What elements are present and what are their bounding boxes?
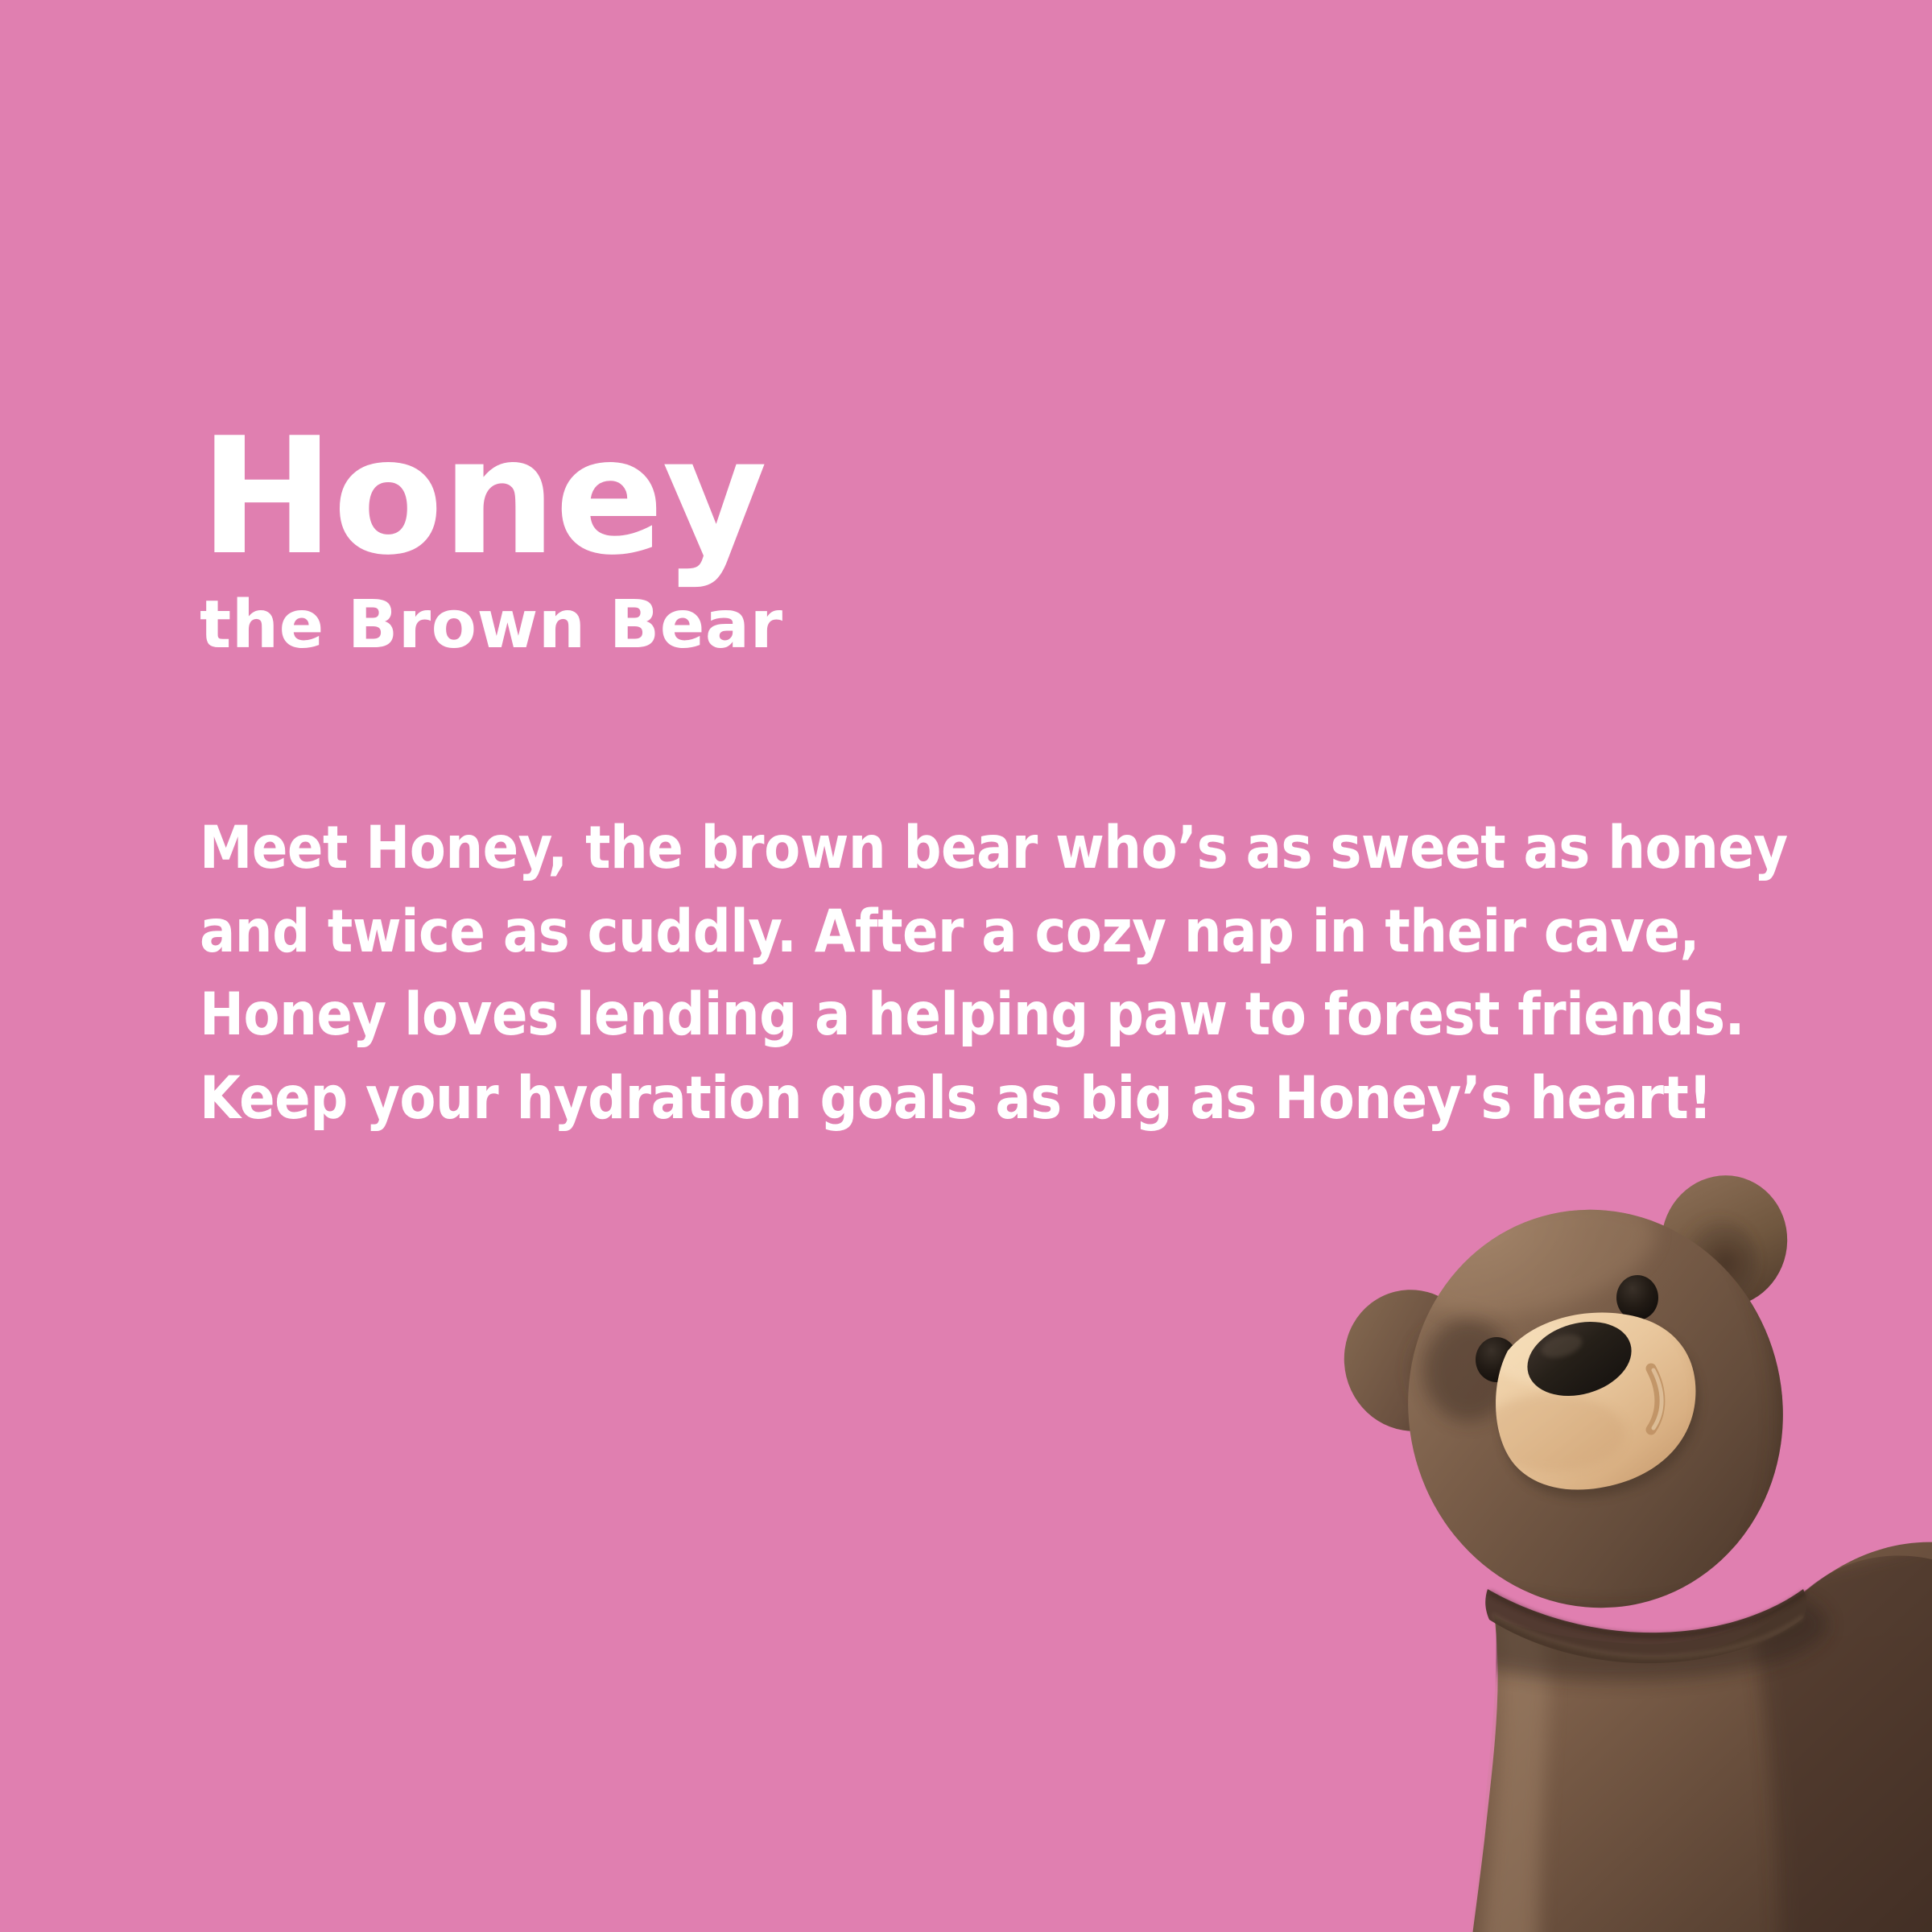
right-ear: [1649, 1167, 1800, 1319]
bear-head: [1352, 1167, 1823, 1650]
page-subtitle: the Brown Bear: [200, 591, 1729, 660]
character-profile-card: Honey the Brown Bear Meet Honey, the bro…: [0, 0, 1932, 1932]
bear-character-illustration: [1296, 1167, 1932, 1932]
bear-nose: [1518, 1311, 1640, 1408]
left-eye: [1476, 1337, 1517, 1382]
right-eye: [1616, 1275, 1658, 1320]
text-block: Honey the Brown Bear Meet Honey, the bro…: [200, 419, 1729, 1141]
description-line: Meet Honey, the brown bear who’s as swee…: [200, 807, 1270, 890]
left-ear: [1329, 1275, 1496, 1445]
mouth-smile: [1651, 1368, 1662, 1430]
bear-body: [1409, 1529, 1932, 1932]
character-description: Meet Honey, the brown bear who’s as swee…: [200, 807, 1270, 1141]
description-line: Keep your hydration goals as big as Hone…: [200, 1057, 1270, 1141]
bear-muzzle: [1480, 1296, 1715, 1498]
description-line: Honey loves lending a helping paw to for…: [200, 973, 1270, 1057]
description-line: and twice as cuddly. After a cozy nap in…: [200, 890, 1270, 974]
page-title: Honey: [200, 419, 1729, 576]
bear-neck-seam: [1485, 1589, 1806, 1663]
